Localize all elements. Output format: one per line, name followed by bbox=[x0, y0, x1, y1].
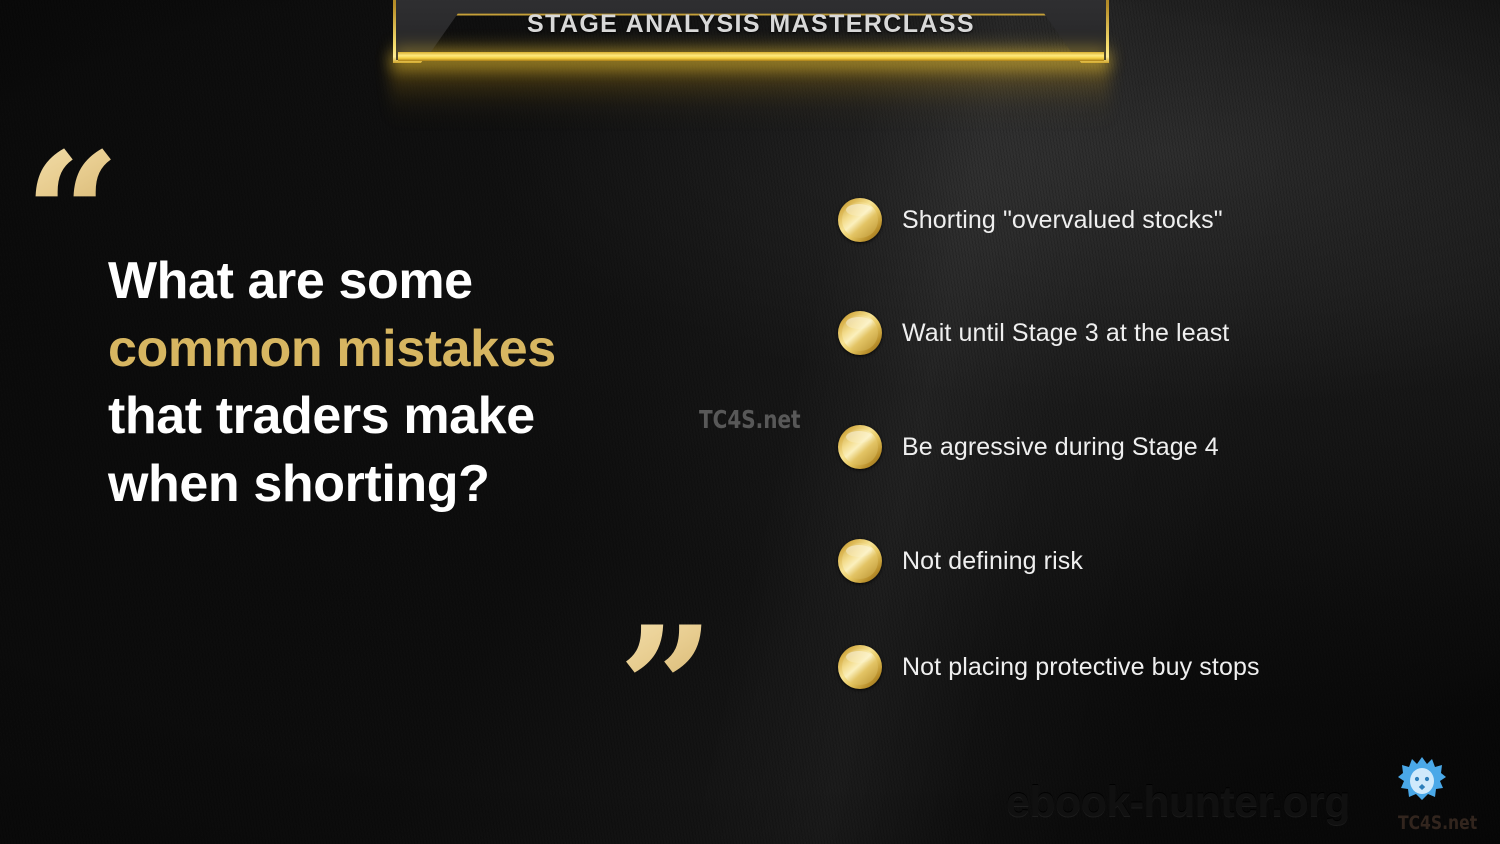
list-item: Not placing protective buy stops bbox=[838, 643, 1260, 691]
list-item-label: Not placing protective buy stops bbox=[902, 653, 1260, 682]
banner-glow bbox=[390, 56, 1110, 126]
headline-line-4: when shorting? bbox=[108, 451, 748, 519]
close-quote-icon: ” bbox=[618, 604, 715, 772]
headline-line-1: What are some bbox=[108, 248, 748, 316]
list-item-label: Not defining risk bbox=[902, 547, 1083, 576]
lion-icon bbox=[1396, 755, 1448, 811]
watermark-center: TC4S.net bbox=[699, 405, 801, 434]
list-item-label: Wait until Stage 3 at the least bbox=[902, 319, 1229, 348]
gold-coin-bullet-icon bbox=[838, 645, 882, 689]
gold-coin-bullet-icon bbox=[838, 311, 882, 355]
headline-line-3: that traders make bbox=[108, 383, 748, 451]
list-item: Not defining risk bbox=[838, 537, 1083, 585]
list-item: Wait until Stage 3 at the least bbox=[838, 309, 1229, 357]
headline-line-2: common mistakes bbox=[108, 316, 748, 384]
gold-coin-bullet-icon bbox=[838, 198, 882, 242]
header-banner: STAGE ANALYSIS MASTERCLASS bbox=[0, 0, 1500, 120]
list-item: Be agressive during Stage 4 bbox=[838, 423, 1219, 471]
watermark-bottom-sub: TC4S.net bbox=[1398, 812, 1477, 834]
slide-canvas: STAGE ANALYSIS MASTERCLASS “ What are so… bbox=[0, 0, 1500, 844]
gold-coin-bullet-icon bbox=[838, 539, 882, 583]
list-item-label: Shorting "overvalued stocks" bbox=[902, 206, 1223, 235]
watermark-bottom: ebook-hunter.org bbox=[1006, 778, 1350, 827]
list-item: Shorting "overvalued stocks" bbox=[838, 196, 1223, 244]
gold-coin-bullet-icon bbox=[838, 425, 882, 469]
open-quote-icon: “ bbox=[24, 130, 121, 298]
banner-title: STAGE ANALYSIS MASTERCLASS bbox=[396, 10, 1106, 39]
banner-gold-bar bbox=[398, 52, 1104, 61]
page-title: What are some common mistakes that trade… bbox=[108, 248, 748, 518]
list-item-label: Be agressive during Stage 4 bbox=[902, 433, 1219, 462]
